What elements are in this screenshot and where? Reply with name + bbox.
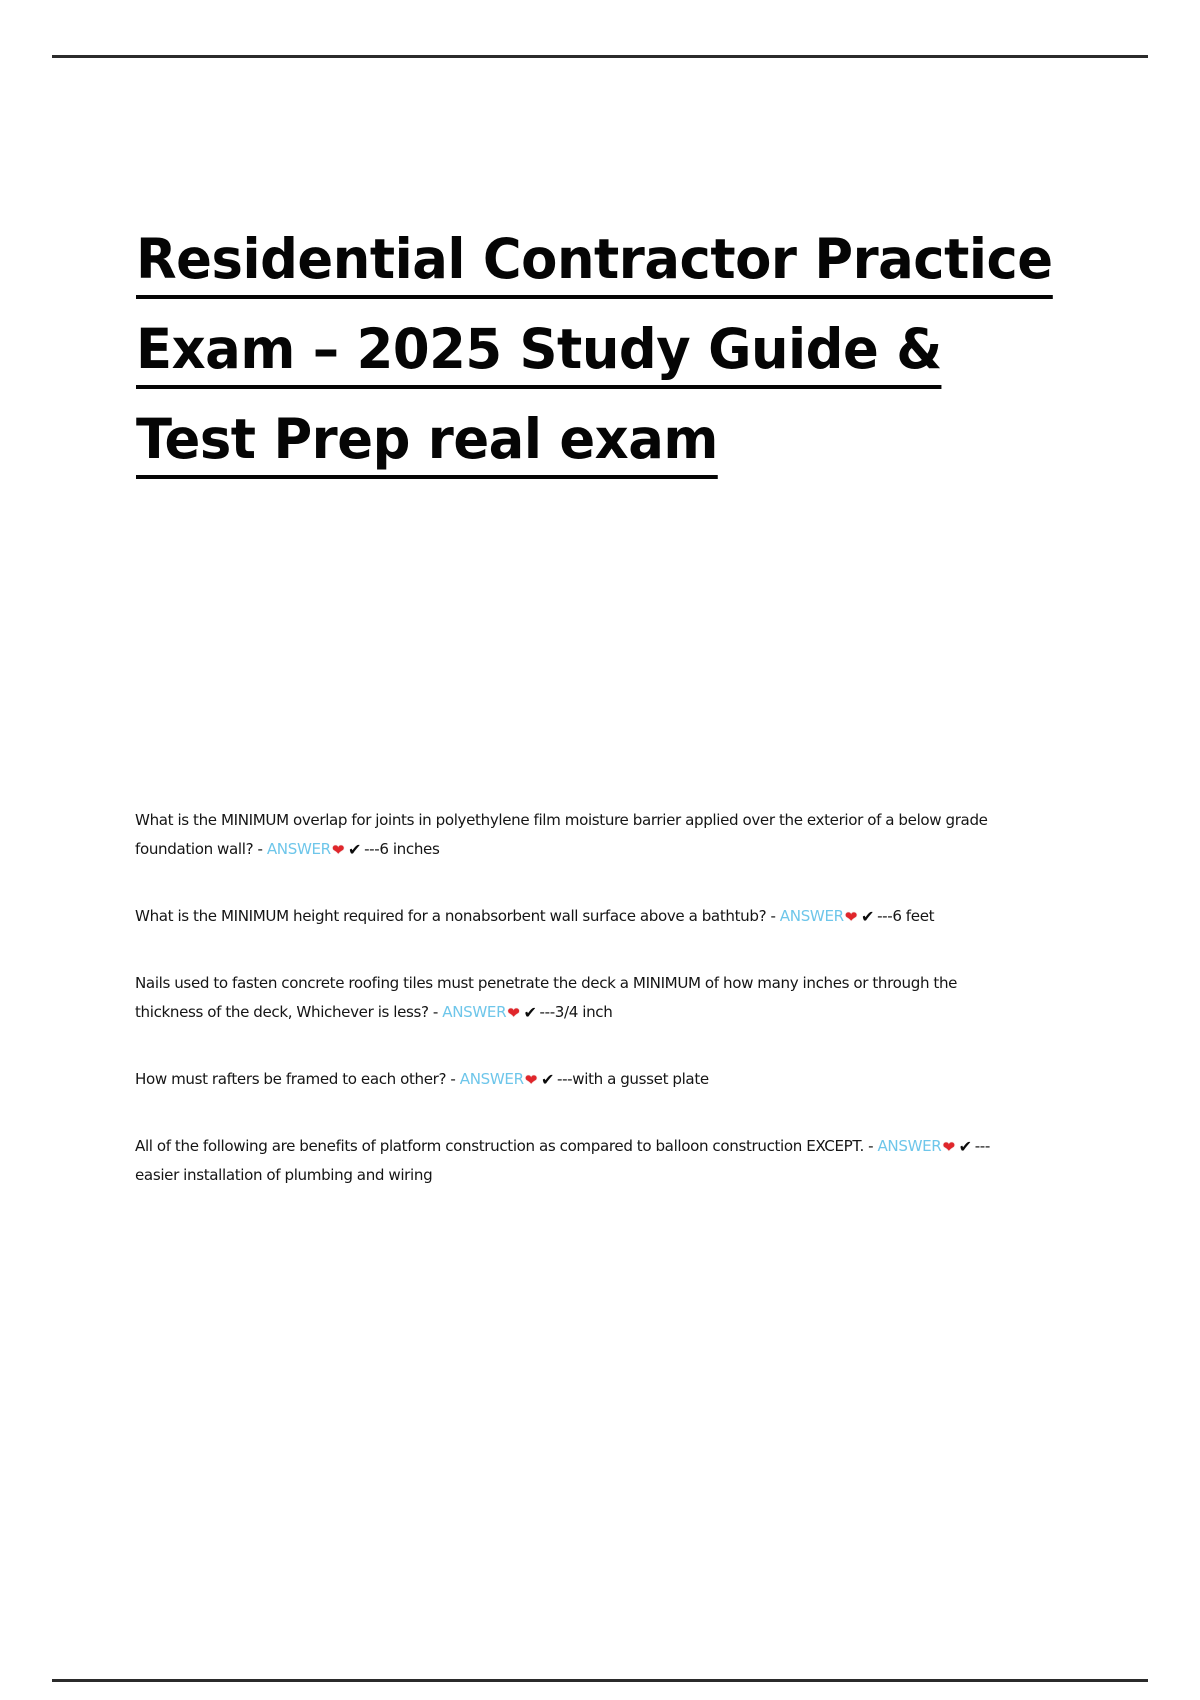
qa-item: All of the following are benefits of pla… [135, 1132, 997, 1190]
answer-dash: --- [364, 840, 379, 858]
qa-list: What is the MINIMUM overlap for joints i… [135, 806, 997, 1190]
heart-icon: ❤ [845, 910, 857, 925]
answer-dash: --- [540, 1003, 555, 1021]
qa-separator: - [766, 907, 780, 925]
header-rule [52, 55, 1148, 58]
heart-icon: ❤ [525, 1073, 537, 1088]
heart-icon: ❤ [507, 1006, 519, 1021]
qa-separator: - [446, 1070, 460, 1088]
qa-question: What is the MINIMUM height required for … [135, 907, 766, 925]
qa-question: How must rafters be framed to each other… [135, 1070, 446, 1088]
qa-answer: with a gusset plate [572, 1070, 709, 1088]
check-icon: ✔ [541, 1072, 554, 1088]
heart-icon: ❤ [942, 1140, 954, 1155]
answer-dash: --- [557, 1070, 572, 1088]
heart-icon: ❤ [332, 843, 344, 858]
answer-label: ANSWER [267, 840, 331, 858]
qa-separator: - [429, 1003, 443, 1021]
answer-label: ANSWER [442, 1003, 506, 1021]
answer-dash: --- [975, 1137, 990, 1155]
qa-item: Nails used to fasten concrete roofing ti… [135, 969, 997, 1027]
document-page: Residential Contractor Practice Exam – 2… [0, 0, 1200, 1700]
answer-dash: --- [877, 907, 892, 925]
qa-question: All of the following are benefits of pla… [135, 1137, 864, 1155]
qa-separator: - [864, 1137, 878, 1155]
title-line-2-text: Exam – 2025 Study Guide & [136, 317, 942, 389]
qa-answer: 6 feet [892, 907, 934, 925]
check-icon: ✔ [348, 842, 361, 858]
answer-label: ANSWER [780, 907, 844, 925]
qa-answer: easier installation of plumbing and wiri… [135, 1166, 432, 1184]
answer-label: ANSWER [460, 1070, 524, 1088]
footer-rule [52, 1679, 1148, 1682]
title-line-1: Residential Contractor Practice [136, 214, 1036, 304]
qa-item: What is the MINIMUM overlap for joints i… [135, 806, 997, 864]
qa-separator: - [253, 840, 267, 858]
check-icon: ✔ [861, 909, 874, 925]
check-icon: ✔ [523, 1005, 536, 1021]
qa-item: What is the MINIMUM height required for … [135, 902, 997, 931]
title-line-3: Test Prep real exam [136, 394, 1036, 484]
check-icon: ✔ [959, 1139, 972, 1155]
qa-answer: 6 inches [379, 840, 439, 858]
qa-answer: 3/4 inch [555, 1003, 613, 1021]
title-line-2: Exam – 2025 Study Guide & [136, 304, 1036, 394]
page-title: Residential Contractor Practice Exam – 2… [136, 214, 1036, 484]
qa-item: How must rafters be framed to each other… [135, 1065, 997, 1094]
answer-label: ANSWER [877, 1137, 941, 1155]
title-line-1-text: Residential Contractor Practice [136, 227, 1053, 299]
title-line-3-text: Test Prep real exam [136, 407, 718, 479]
